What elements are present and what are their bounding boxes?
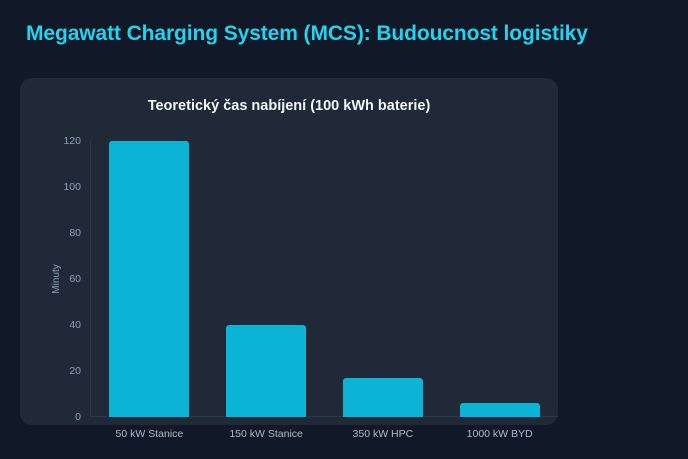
bar-1[interactable] (226, 325, 306, 417)
bar-3[interactable] (460, 403, 540, 417)
x-tick-label: 350 kW HPC (325, 428, 441, 440)
bar-slot (442, 141, 558, 417)
page-title: Megawatt Charging System (MCS): Budoucno… (26, 22, 588, 46)
bar-slot (91, 141, 207, 417)
chart-card: Teoretický čas nabíjení (100 kWh baterie… (20, 78, 558, 425)
y-tick-label: 60 (69, 273, 81, 285)
x-tick-label: 1000 kW BYD (442, 428, 558, 440)
x-tick-label: 50 kW Stanice (91, 428, 207, 440)
y-tick-label: 120 (63, 135, 81, 147)
y-tick-label: 20 (69, 365, 81, 377)
x-tick-label: 150 kW Stanice (208, 428, 324, 440)
y-tick-label: 40 (69, 319, 81, 331)
chart-title: Teoretický čas nabíjení (100 kWh baterie… (20, 98, 558, 114)
bar-slot (325, 141, 441, 417)
bar-0[interactable] (109, 141, 189, 417)
y-tick-label: 80 (69, 227, 81, 239)
y-axis-title: Minuty (51, 264, 62, 293)
bar-slot (208, 141, 324, 417)
y-tick-label: 0 (75, 411, 81, 423)
bar-series (91, 141, 558, 417)
y-tick-label: 100 (63, 181, 81, 193)
plot-area: Minuty 020406080100120 (90, 141, 558, 417)
x-axis-tick-labels: 50 kW Stanice150 kW Stanice350 kW HPC100… (91, 428, 558, 440)
bar-2[interactable] (343, 378, 423, 417)
